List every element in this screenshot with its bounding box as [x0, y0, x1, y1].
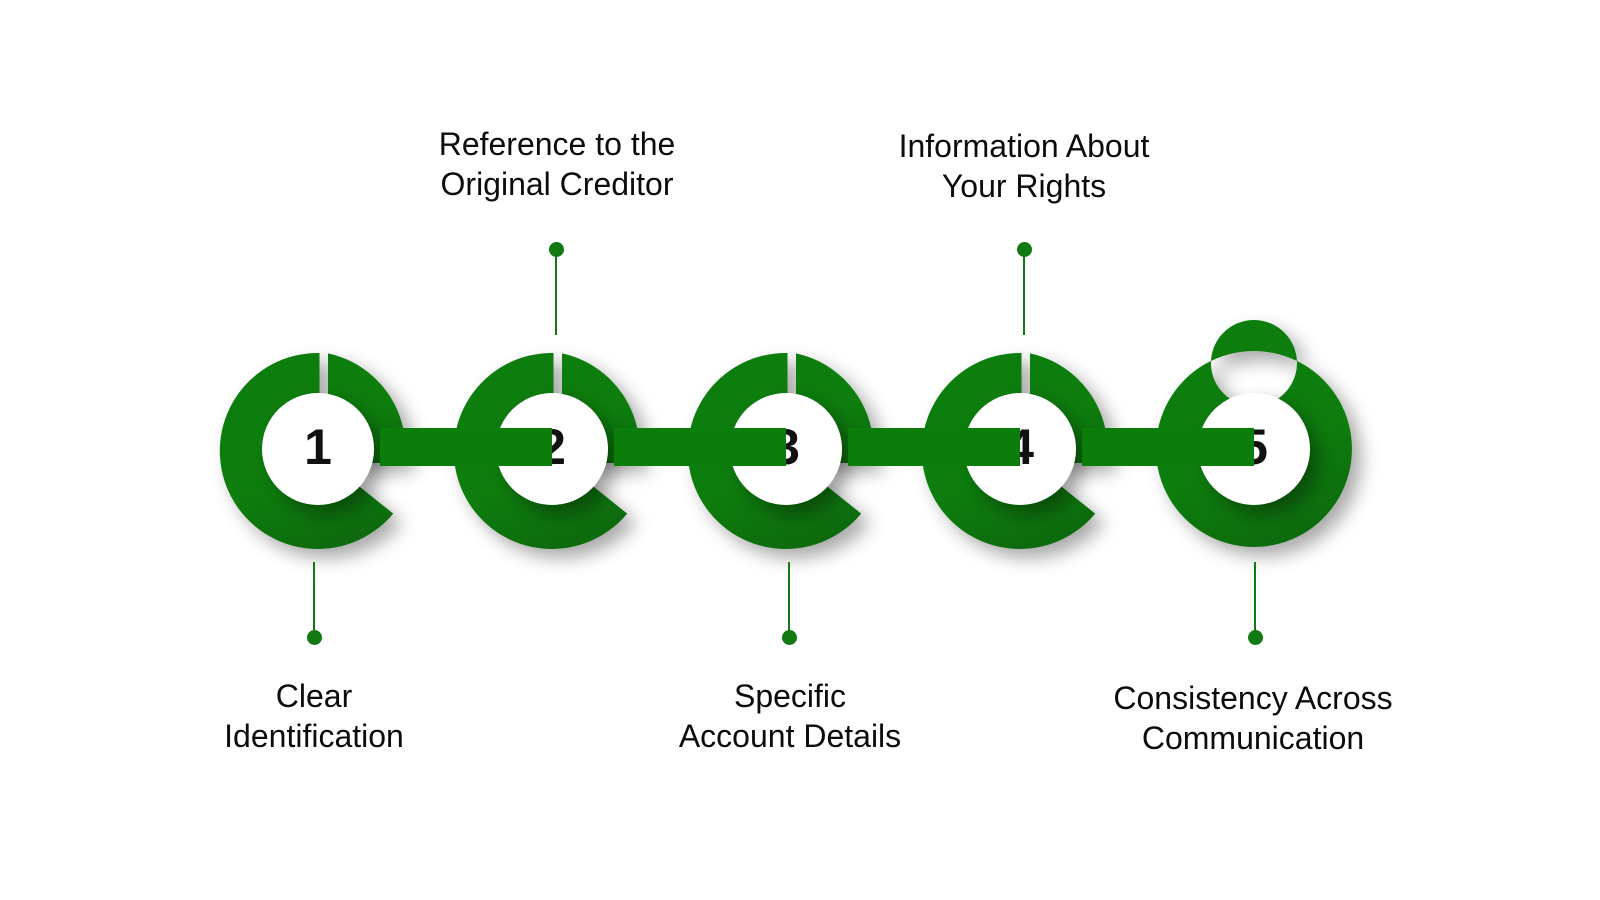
leader-line-4	[1023, 255, 1025, 335]
leader-line-3	[788, 562, 790, 637]
callout-label-step-5: Consistency Across Communication	[1003, 678, 1503, 758]
connector-bar-4-5	[1082, 428, 1254, 466]
leader-step-5	[1247, 562, 1263, 652]
leader-line-2	[555, 255, 557, 335]
leader-step-1	[306, 562, 322, 652]
leader-line-1	[313, 562, 315, 637]
leader-dot-1	[307, 630, 322, 645]
callout-label-step-1: Clear Identification	[104, 676, 524, 756]
leader-step-2	[548, 242, 564, 342]
infographic-canvas: 1 2	[0, 0, 1600, 900]
connector-bar-2-3	[614, 428, 786, 466]
leader-step-3	[781, 562, 797, 652]
callout-label-step-4: Information About Your Rights	[794, 126, 1254, 206]
connector-bar-3-4	[848, 428, 1020, 466]
connector-bar-1-2	[380, 428, 552, 466]
leader-step-4	[1016, 242, 1032, 342]
callout-label-step-3: Specific Account Details	[560, 676, 1020, 756]
callout-label-step-2: Reference to the Original Creditor	[327, 124, 787, 204]
leader-dot-3	[782, 630, 797, 645]
leader-line-5	[1254, 562, 1256, 637]
leader-dot-5	[1248, 630, 1263, 645]
